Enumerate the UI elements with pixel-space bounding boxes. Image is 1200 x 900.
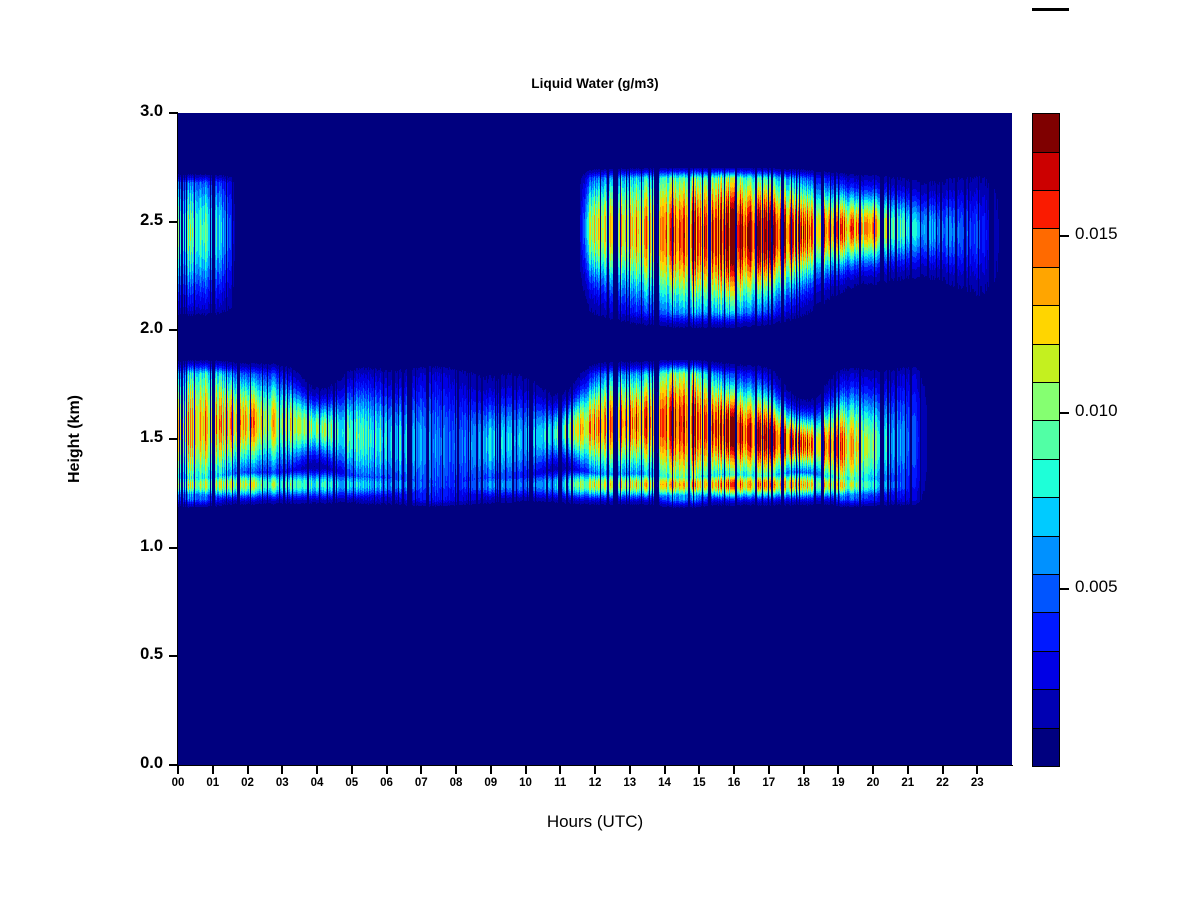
x-tick-mark: [733, 765, 735, 774]
x-tick-label: 11: [549, 777, 571, 789]
x-tick-mark: [351, 765, 353, 774]
colorbar-tick-mark: [1059, 235, 1069, 237]
x-tick-label: 01: [202, 777, 224, 789]
x-tick-mark: [837, 765, 839, 774]
colorbar-band: [1033, 652, 1059, 690]
y-tick-mark: [169, 329, 178, 331]
colorbar-tick-label: 0.010: [1075, 401, 1118, 421]
x-tick-label: 23: [966, 777, 988, 789]
colorbar-band: [1033, 114, 1059, 152]
colorbar: [1032, 113, 1060, 767]
x-tick-label: 07: [410, 777, 432, 789]
x-tick-mark: [872, 765, 874, 774]
colorbar-band: [1033, 729, 1059, 766]
y-tick-mark: [169, 438, 178, 440]
x-tick-mark: [594, 765, 596, 774]
x-tick-label: 20: [862, 777, 884, 789]
x-tick-mark: [525, 765, 527, 774]
y-tick-label: 2.0: [140, 319, 163, 338]
x-tick-mark: [316, 765, 318, 774]
x-tick-mark: [976, 765, 978, 774]
x-axis-label: Hours (UTC): [178, 812, 1012, 832]
y-tick-mark: [169, 112, 178, 114]
x-tick-mark: [698, 765, 700, 774]
x-tick-label: 08: [445, 777, 467, 789]
x-tick-label: 16: [723, 777, 745, 789]
x-tick-mark: [455, 765, 457, 774]
page-title: Liquid Water (g/m3): [178, 76, 1012, 91]
colorbar-tick-mark: [1059, 588, 1069, 590]
y-tick-mark: [169, 547, 178, 549]
x-tick-mark: [664, 765, 666, 774]
colorbar-band: [1033, 268, 1059, 306]
colorbar-band: [1033, 460, 1059, 498]
x-tick-label: 05: [341, 777, 363, 789]
colorbar-band: [1033, 191, 1059, 229]
figure-canvas-root: Liquid Water (g/m3) 0.00.51.01.52.02.53.…: [0, 0, 1200, 900]
x-tick-mark: [942, 765, 944, 774]
colorbar-tick-label: 0.005: [1075, 577, 1118, 597]
x-tick-label: 22: [932, 777, 954, 789]
y-tick-label: 2.5: [140, 211, 163, 230]
x-tick-label: 13: [619, 777, 641, 789]
x-tick-label: 18: [793, 777, 815, 789]
y-tick-mark: [169, 221, 178, 223]
x-tick-label: 09: [480, 777, 502, 789]
y-tick-mark: [169, 655, 178, 657]
x-tick-label: 17: [758, 777, 780, 789]
x-tick-mark: [490, 765, 492, 774]
x-tick-mark: [803, 765, 805, 774]
heatmap-plot-area: [178, 113, 1012, 765]
x-tick-label: 03: [271, 777, 293, 789]
y-axis-label: Height (km): [66, 339, 84, 539]
x-tick-mark: [559, 765, 561, 774]
x-tick-mark: [386, 765, 388, 774]
colorbar-band: [1033, 421, 1059, 459]
x-tick-label: 21: [897, 777, 919, 789]
colorbar-band: [1033, 690, 1059, 728]
x-tick-label: 19: [827, 777, 849, 789]
heatmap-canvas: [178, 113, 1012, 765]
x-tick-mark: [281, 765, 283, 774]
y-tick-label: 0.0: [140, 754, 163, 773]
y-tick-label: 1.0: [140, 537, 163, 556]
x-tick-label: 15: [688, 777, 710, 789]
y-tick-label: 0.5: [140, 645, 163, 664]
colorbar-band: [1033, 153, 1059, 191]
colorbar-band: [1033, 383, 1059, 421]
colorbar-band: [1033, 498, 1059, 536]
x-tick-mark: [907, 765, 909, 774]
x-tick-mark: [247, 765, 249, 774]
colorbar-band: [1033, 345, 1059, 383]
x-tick-label: 02: [237, 777, 259, 789]
x-tick-mark: [177, 765, 179, 774]
colorbar-band: [1033, 575, 1059, 613]
colorbar-band: [1033, 229, 1059, 267]
x-tick-label: 04: [306, 777, 328, 789]
colorbar-tick-mark: [1059, 412, 1069, 414]
x-tick-label: 12: [584, 777, 606, 789]
y-tick-label: 3.0: [140, 102, 163, 121]
x-tick-mark: [768, 765, 770, 774]
x-tick-mark: [629, 765, 631, 774]
colorbar-band: [1033, 306, 1059, 344]
x-tick-label: 06: [376, 777, 398, 789]
top-edge-artifact: [1032, 8, 1069, 11]
x-tick-label: 10: [515, 777, 537, 789]
x-tick-mark: [212, 765, 214, 774]
colorbar-band: [1033, 613, 1059, 651]
colorbar-tick-label: 0.015: [1075, 224, 1118, 244]
x-tick-label: 00: [167, 777, 189, 789]
x-tick-label: 14: [654, 777, 676, 789]
y-tick-label: 1.5: [140, 428, 163, 447]
x-tick-mark: [420, 765, 422, 774]
colorbar-band: [1033, 537, 1059, 575]
